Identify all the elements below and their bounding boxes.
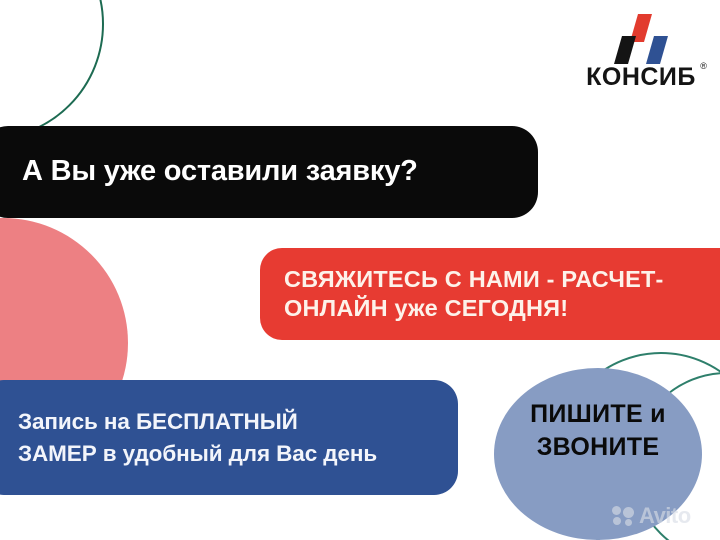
konsib-logo-mark-icon <box>608 14 674 64</box>
registered-trademark-icon: ® <box>700 62 707 71</box>
free-measurement-banner: Запись на БЕСПЛАТНЫЙ ЗАМЕР в удобный для… <box>0 380 458 495</box>
call-line-2: ЗВОНИТЕ <box>494 431 702 464</box>
avito-dots-icon <box>612 506 636 527</box>
brand-wordmark: КОНСИБ <box>586 65 696 90</box>
avito-watermark-label: Avito <box>639 505 691 527</box>
contact-line-2: ОНЛАЙН уже СЕГОДНЯ! <box>284 294 568 323</box>
headline-banner: А Вы уже оставили заявку? <box>0 126 538 218</box>
contact-line-1: СВЯЖИТЕСЬ С НАМИ - РАСЧЕТ- <box>284 265 664 294</box>
call-line-1: ПИШИТЕ и <box>494 398 702 431</box>
headline-text: А Вы уже оставили заявку? <box>22 156 418 188</box>
call-to-action-text: ПИШИТЕ и ЗВОНИТЕ <box>494 398 702 463</box>
measurement-line-1: Запись на БЕСПЛАТНЫЙ <box>18 406 298 438</box>
measurement-line-2: ЗАМЕР в удобный для Вас день <box>18 438 377 470</box>
promo-poster: КОНСИБ ® А Вы уже оставили заявку? СВЯЖИ… <box>0 0 720 540</box>
decorative-circle-outline-top-left <box>0 0 104 140</box>
brand-logo: КОНСИБ ® <box>576 14 706 90</box>
avito-watermark: Avito <box>612 505 691 527</box>
contact-banner: СВЯЖИТЕСЬ С НАМИ - РАСЧЕТ- ОНЛАЙН уже СЕ… <box>260 248 720 340</box>
brand-wordmark-wrap: КОНСИБ ® <box>586 65 696 90</box>
